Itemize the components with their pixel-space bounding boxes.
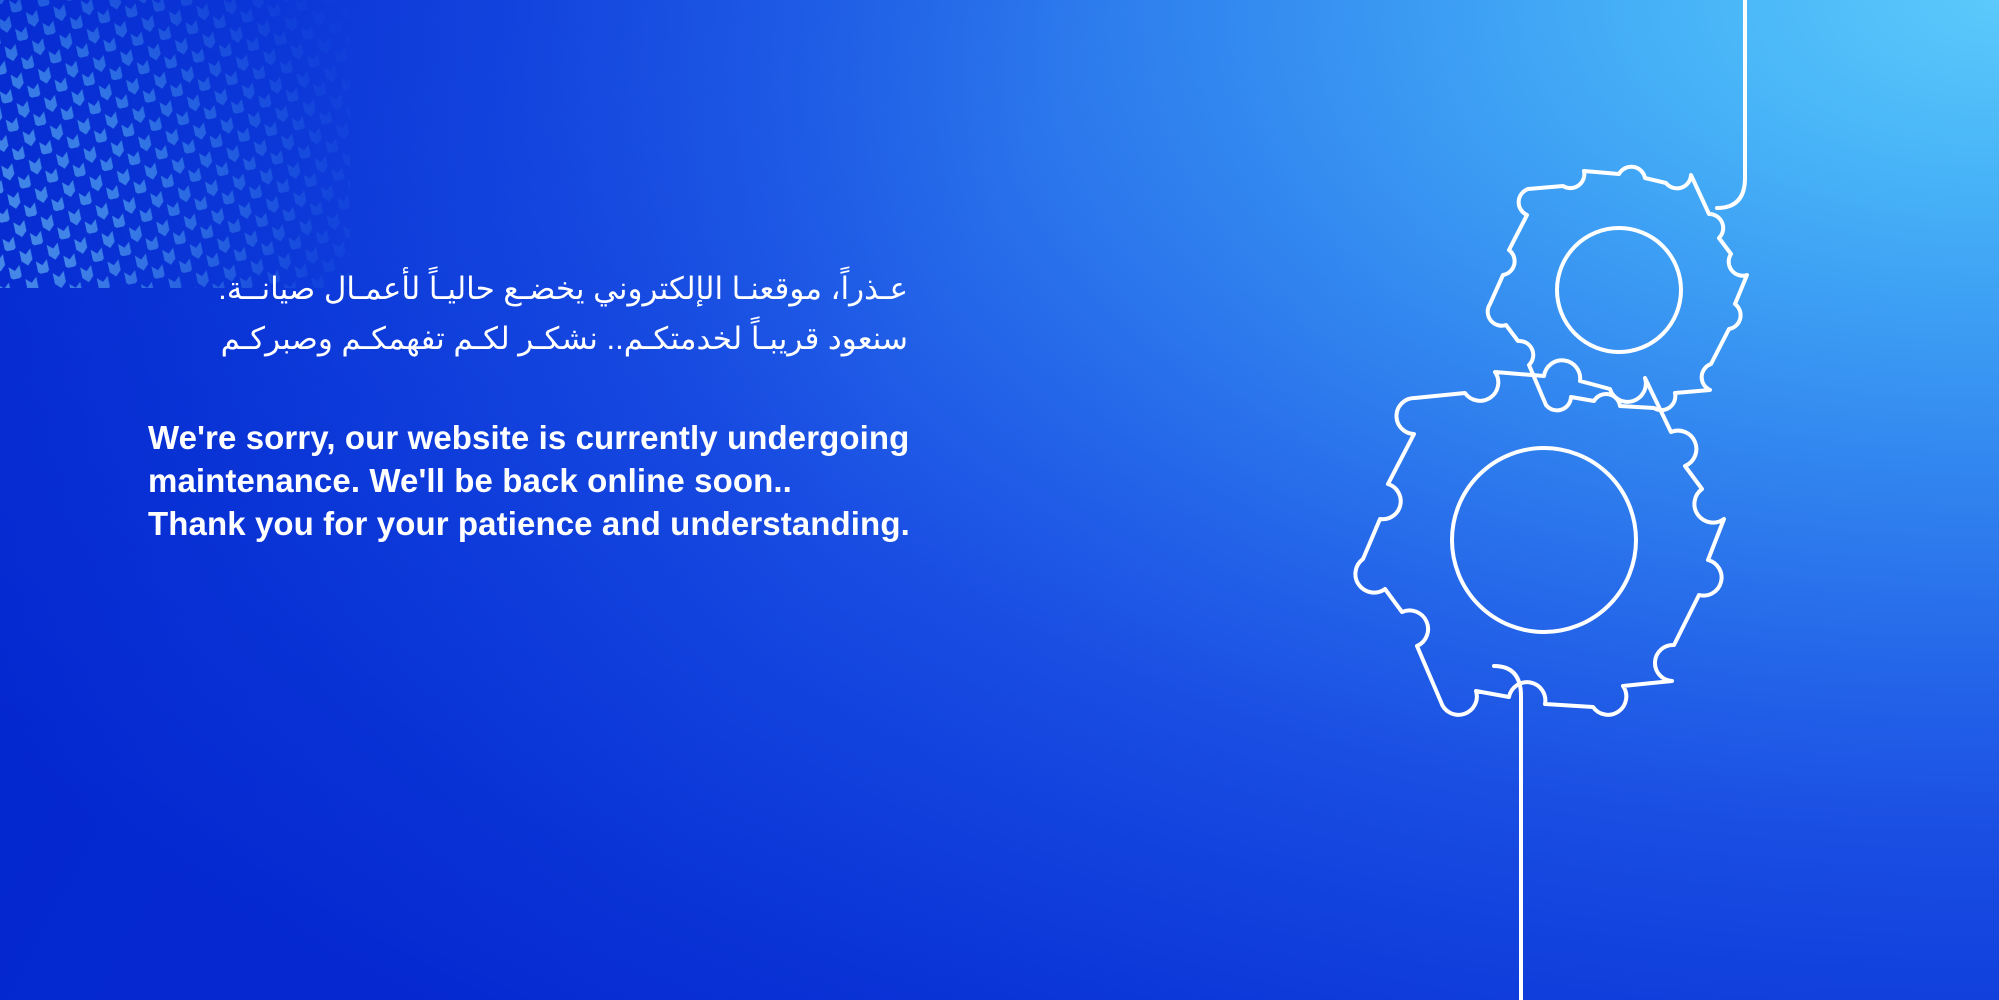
english-message-line-3: Thank you for your patience and understa… [148,502,908,545]
arabic-message: عـذراً، موقعنـا الإلكتروني يخضـع حاليـاً… [148,264,908,364]
english-message: We're sorry, our website is currently un… [148,364,908,545]
english-message-line-1: We're sorry, our website is currently un… [148,416,908,459]
maintenance-page: عـذراً، موقعنـا الإلكتروني يخضـع حاليـاً… [0,0,1999,1000]
arabic-message-line-2: سنعود قريبـاً لخدمتكـم.. نشكـر لكـم تفهم… [148,314,908,364]
english-message-line-2: maintenance. We'll be back online soon.. [148,459,908,502]
message-copy: عـذراً، موقعنـا الإلكتروني يخضـع حاليـاً… [148,264,908,545]
arabic-message-line-1: عـذراً، موقعنـا الإلكتروني يخضـع حاليـاً… [148,264,908,314]
